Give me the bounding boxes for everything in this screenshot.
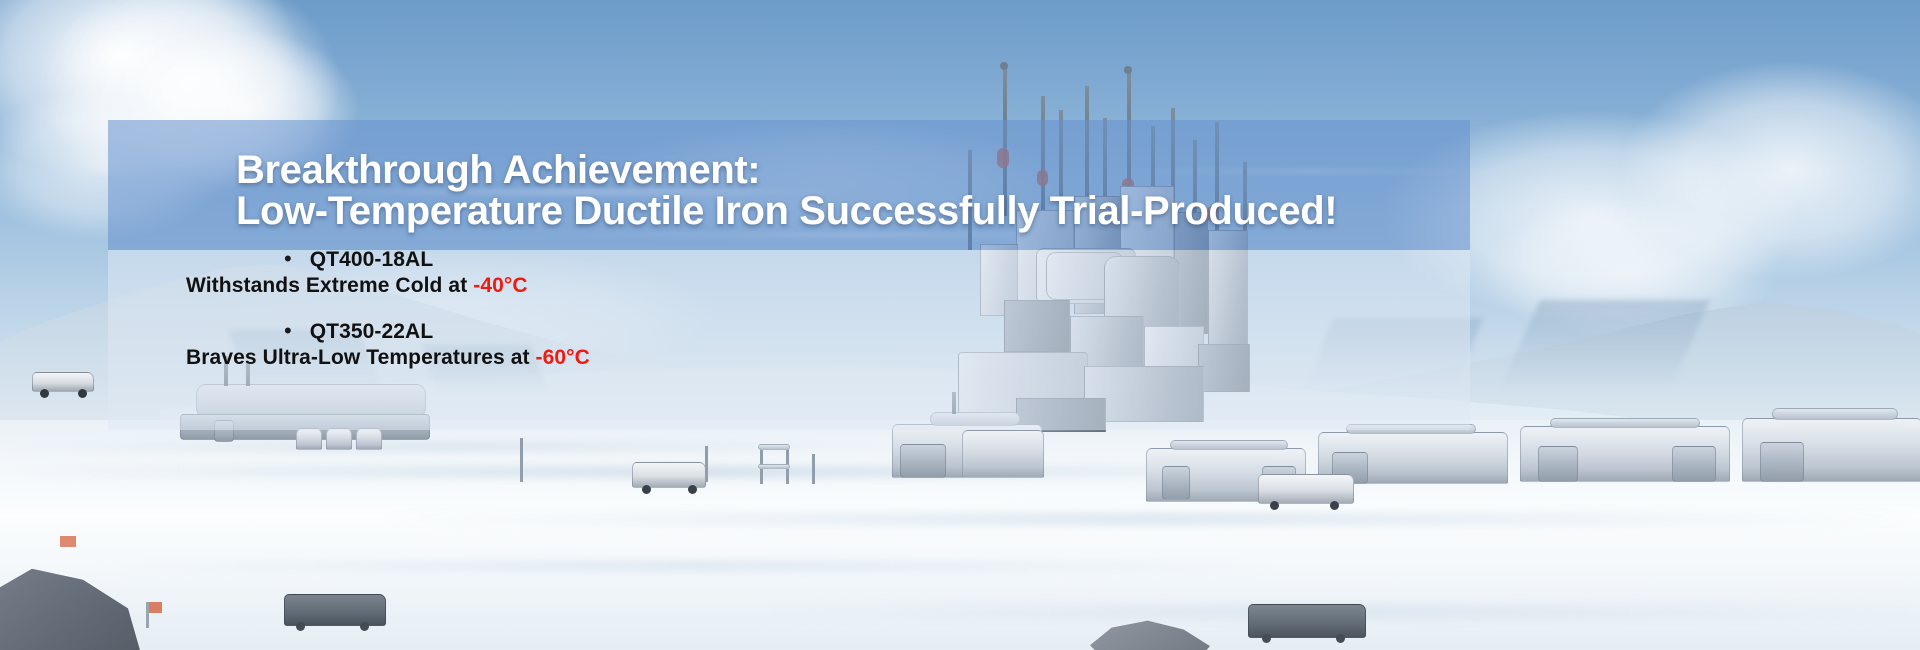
claim-text: Braves Ultra-Low Temperatures at	[186, 346, 536, 369]
wheel-icon	[40, 389, 49, 398]
flag-pole	[146, 602, 149, 628]
snow-drift	[90, 560, 1290, 572]
list-item: • QT400-18AL Withstands Extreme Cold at …	[108, 248, 1470, 298]
claim-text: Withstands Extreme Cold at	[186, 274, 473, 297]
claim-row: Braves Ultra-Low Temperatures at -60°C	[108, 346, 1470, 370]
list-item: • QT350-22AL Braves Ultra-Low Temperatur…	[108, 320, 1470, 370]
utility-post	[705, 446, 708, 482]
grade-row: • QT400-18AL	[108, 248, 1470, 272]
temperature-value: -60°C	[536, 346, 590, 369]
page-title: Breakthrough Achievement: Low-Temperatur…	[236, 150, 1436, 232]
wheel-icon	[78, 389, 87, 398]
utility-post	[520, 438, 523, 482]
material-grade-label: QT400-18AL	[310, 248, 434, 272]
bullet-dot-icon: •	[284, 320, 292, 342]
material-grade-label: QT350-22AL	[310, 320, 434, 344]
bullet-dot-icon: •	[284, 248, 292, 270]
marker-flag-icon	[60, 536, 76, 547]
text-overlay-panel: Breakthrough Achievement: Low-Temperatur…	[108, 120, 1470, 430]
grade-row: • QT350-22AL	[108, 320, 1470, 344]
promo-banner: Breakthrough Achievement: Low-Temperatur…	[0, 0, 1920, 650]
feature-list: • QT400-18AL Withstands Extreme Cold at …	[108, 248, 1470, 392]
temperature-value: -40°C	[473, 274, 527, 297]
snow-drift	[380, 512, 1920, 526]
utility-post	[812, 454, 815, 484]
claim-row: Withstands Extreme Cold at -40°C	[108, 274, 1470, 298]
